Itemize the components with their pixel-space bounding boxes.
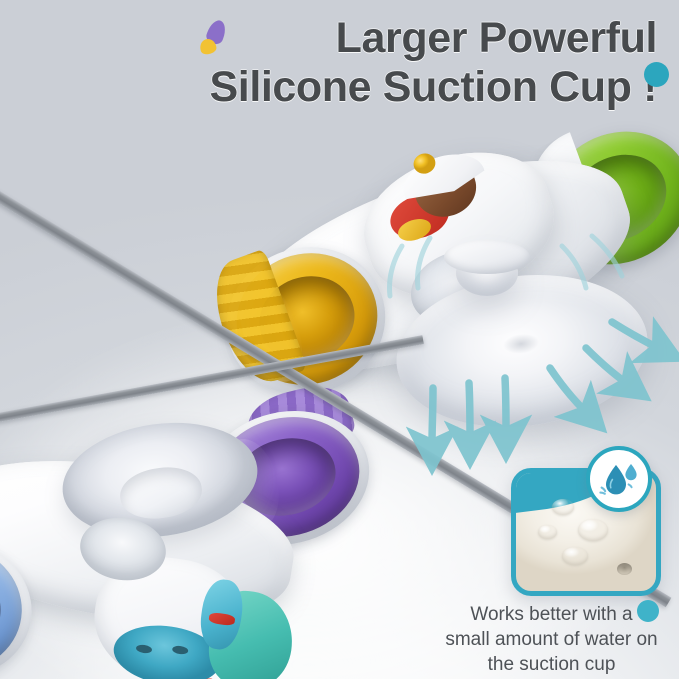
infographic-canvas: Larger Powerful Silicone Suction Cup ! W…: [0, 0, 679, 679]
lower-toy: [0, 386, 400, 679]
suction-cup-pinhole: [617, 563, 632, 575]
caption-line-3: the suction cup: [424, 652, 679, 677]
water-droplet-icon: [598, 458, 640, 500]
inset-caption: Works better with a small amount of wate…: [424, 602, 679, 677]
water-bead: [538, 525, 557, 539]
caption-line-1: Works better with a: [424, 602, 679, 627]
suction-cup-collar: [444, 240, 530, 274]
water-bead: [562, 547, 588, 565]
page-title: Larger Powerful Silicone Suction Cup !: [0, 14, 679, 112]
caption-line-2: small amount of water on: [424, 627, 679, 652]
water-droplet-badge: [586, 446, 652, 512]
title-line-1: Larger Powerful: [0, 14, 657, 63]
water-bead: [578, 519, 608, 541]
suction-cup-center-dimple: [495, 330, 548, 363]
wheel-cup-mouth: [0, 559, 9, 658]
water-bead: [552, 499, 574, 515]
title-line-2: Silicone Suction Cup !: [0, 63, 657, 112]
